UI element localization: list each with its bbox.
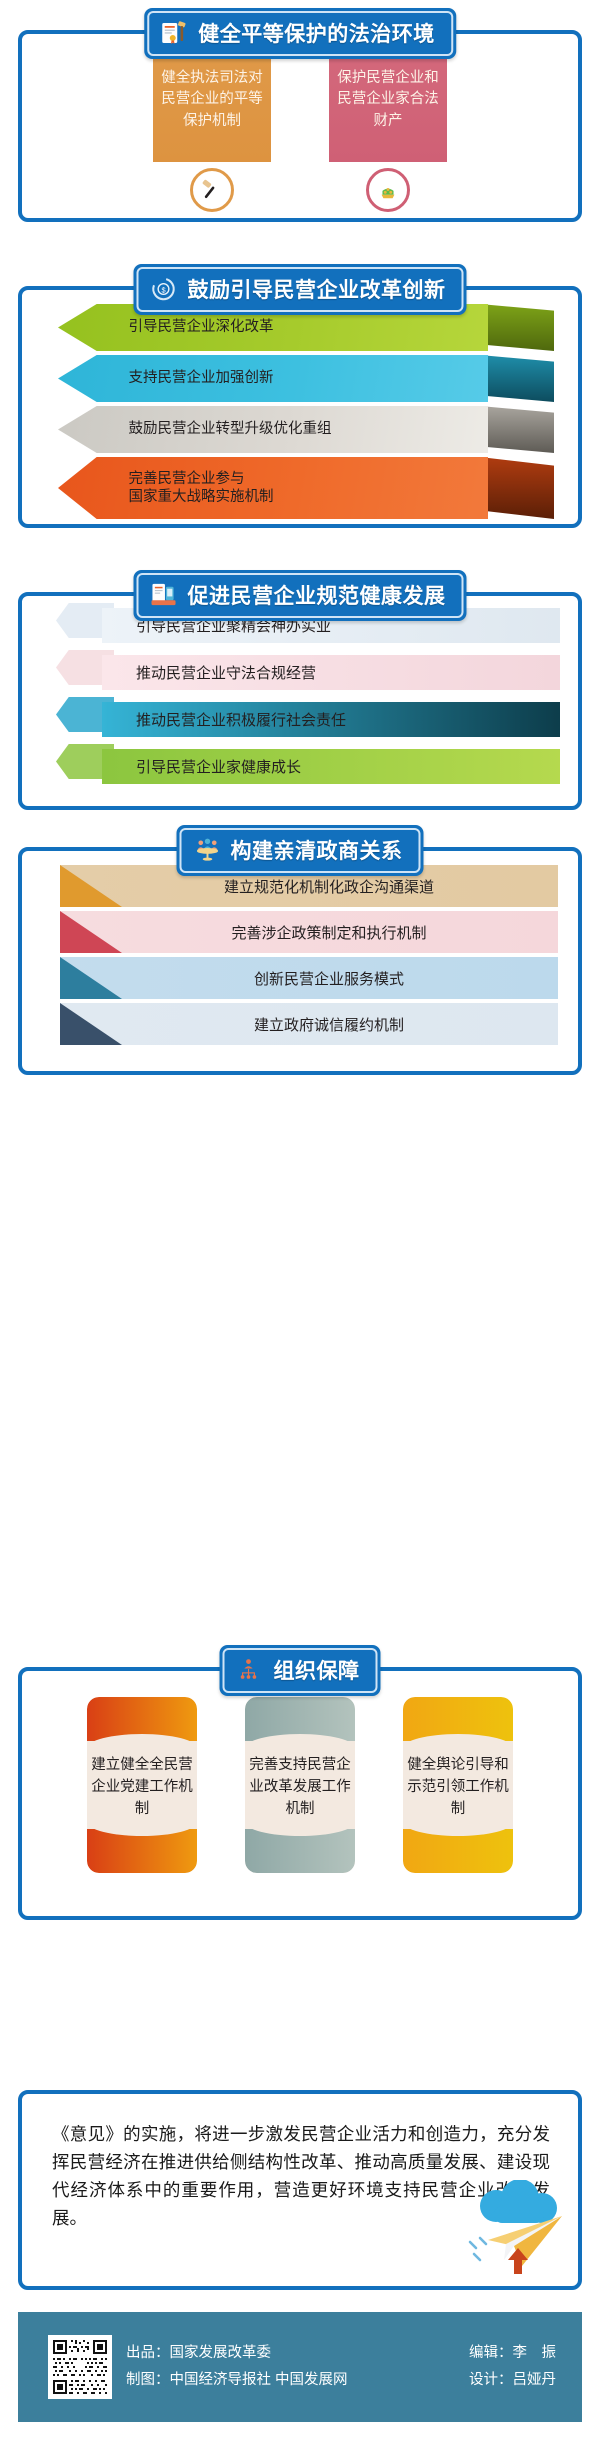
section-gov-business-relations: 构建亲清政商关系 建立规范化机制化政企沟通渠道 完善涉企政策制定和执行机制 创新… xyxy=(18,825,582,1075)
section-title: 组织保障 xyxy=(274,1655,360,1685)
banner-label: 推动民营企业守法合规经营 xyxy=(102,655,560,690)
cylinder-card[interactable]: 健全舆论引导和示范引领工作机制 xyxy=(403,1697,513,1873)
legal-card-2[interactable]: 保护民营企业和民营企业家合法财产 xyxy=(329,38,447,212)
banner-list: 引导民营企业聚精会神办实业 推动民营企业守法合规经营 推动民营企业积极履行社会责… xyxy=(56,608,560,796)
ribbon-item[interactable]: 建立政府诚信履约机制 xyxy=(60,1003,558,1045)
section-title: 鼓励引导民营企业改革创新 xyxy=(188,274,446,304)
section-header[interactable]: 构建亲清政商关系 xyxy=(177,825,424,876)
ribbon-item[interactable]: 完善涉企政策制定和执行机制 xyxy=(60,911,558,953)
cylinder-foot xyxy=(87,1829,197,1873)
banner-label: 引导民营企业家健康成长 xyxy=(102,749,560,784)
ribbon-label: 完善涉企政策制定和执行机制 xyxy=(191,922,426,943)
qr-code[interactable] xyxy=(48,2335,112,2399)
section-title: 健全平等保护的法治环境 xyxy=(198,18,435,48)
people-table-icon xyxy=(194,837,222,863)
clipboard-phone-icon xyxy=(151,582,179,608)
section-organizational-guarantee: 组织保障 建立健全全民营企业党建工作机制 完善支持民营企业改革发展工作机制 健全… xyxy=(18,1645,582,1920)
ribbon-label: 创新民营企业服务模式 xyxy=(214,968,404,989)
cylinder-foot xyxy=(403,1829,513,1873)
section-header[interactable]: 促进民营企业规范健康发展 xyxy=(134,570,467,621)
cylinder-label: 完善支持民营企业改革发展工作机制 xyxy=(245,1741,355,1835)
charted-by: 制图：中国经济导报社 中国发展网 xyxy=(126,2367,469,2394)
legal-card-1[interactable]: 健全执法司法对民营企业的平等保护机制 xyxy=(153,38,271,212)
chevron-label-line2: 国家重大战略实施机制 xyxy=(129,488,274,506)
ribbon-tail xyxy=(60,957,122,999)
section-header[interactable]: 健全平等保护的法治环境 xyxy=(144,8,456,59)
cylinder-cap xyxy=(87,1697,197,1741)
chevron-list: 引导民营企业深化改革 支持民营企业加强创新 鼓励民营企业转型升级优化重组 完善民… xyxy=(58,304,562,523)
cylinder-cap xyxy=(245,1697,355,1741)
chevron-item[interactable]: 完善民营企业参与 国家重大战略实施机制 xyxy=(58,457,562,519)
produced-by: 出品：国家发展改革委 xyxy=(126,2340,469,2367)
chevron-side xyxy=(480,355,554,402)
svg-text:$: $ xyxy=(161,285,165,294)
ribbon-tail xyxy=(60,865,122,907)
section-reform-innovation: $ 鼓励引导民营企业改革创新 引导民营企业深化改革 支持民营企业加强创新 鼓励民… xyxy=(18,264,582,528)
chevron-label-multiline: 完善民营企业参与 国家重大战略实施机制 xyxy=(58,457,488,519)
cylinder-list: 建立健全全民营企业党建工作机制 完善支持民营企业改革发展工作机制 健全舆论引导和… xyxy=(18,1697,582,1873)
banner-item[interactable]: 推动民营企业积极履行社会责任 xyxy=(56,702,560,737)
section-legal-environment: 健全平等保护的法治环境 健全执法司法对民营企业的平等保护机制 保护民营企业和民营… xyxy=(18,8,582,222)
banner-label: 推动民营企业积极履行社会责任 xyxy=(102,702,560,737)
cylinder-card[interactable]: 完善支持民营企业改革发展工作机制 xyxy=(245,1697,355,1873)
recycle-coin-icon: $ xyxy=(151,276,179,302)
section-header[interactable]: 组织保障 xyxy=(220,1645,381,1696)
ribbon-tail xyxy=(60,911,122,953)
org-chart-icon xyxy=(237,1657,265,1683)
editor: 编辑：李 振 xyxy=(469,2340,556,2367)
chevron-label: 支持民营企业加强创新 xyxy=(58,355,488,402)
section-title: 促进民营企业规范健康发展 xyxy=(188,580,446,610)
legal-cards-row: 健全执法司法对民营企业的平等保护机制 保护民营企业和民营企业家合法财产 xyxy=(18,38,582,212)
banner-item[interactable]: 推动民营企业守法合规经营 xyxy=(56,655,560,690)
section-title: 构建亲清政商关系 xyxy=(231,835,403,865)
ribbon-label: 建立政府诚信履约机制 xyxy=(214,1014,404,1035)
section-healthy-development: 促进民营企业规范健康发展 引导民营企业聚精会神办实业 推动民营企业守法合规经营 … xyxy=(18,570,582,810)
chevron-label: 鼓励民营企业转型升级优化重组 xyxy=(58,406,488,453)
chevron-side xyxy=(480,457,554,519)
banner-item[interactable]: 引导民营企业家健康成长 xyxy=(56,749,560,784)
chevron-side xyxy=(480,406,554,453)
cylinder-label: 建立健全全民营企业党建工作机制 xyxy=(87,1741,197,1835)
footer-bar: 出品：国家发展改革委 编辑：李 振 制图：中国经济导报社 中国发展网 设计：吕娅… xyxy=(18,2312,582,2422)
cylinder-card[interactable]: 建立健全全民营企业党建工作机制 xyxy=(87,1697,197,1873)
ribbon-tail xyxy=(60,1003,122,1045)
ribbon-list: 建立规范化机制化政企沟通渠道 完善涉企政策制定和执行机制 创新民营企业服务模式 … xyxy=(60,865,558,1049)
cylinder-foot xyxy=(245,1829,355,1873)
treasure-money-icon xyxy=(366,168,410,212)
chevron-item[interactable]: 支持民营企业加强创新 xyxy=(58,355,562,402)
cylinder-cap xyxy=(403,1697,513,1741)
ribbon-item[interactable]: 创新民营企业服务模式 xyxy=(60,957,558,999)
chevron-label-line1: 完善民营企业参与 xyxy=(129,470,274,488)
cloud-paper-plane-icon xyxy=(444,2180,564,2276)
cylinder-label: 健全舆论引导和示范引领工作机制 xyxy=(403,1741,513,1835)
document-gavel-icon xyxy=(161,20,189,46)
chevron-item[interactable]: 鼓励民营企业转型升级优化重组 xyxy=(58,406,562,453)
chevron-side xyxy=(480,304,554,351)
designer: 设计：吕娅丹 xyxy=(469,2367,556,2394)
gavel-icon xyxy=(190,168,234,212)
footer-credits: 出品：国家发展改革委 编辑：李 振 制图：中国经济导报社 中国发展网 设计：吕娅… xyxy=(126,2340,556,2394)
section-header[interactable]: $ 鼓励引导民营企业改革创新 xyxy=(134,264,467,315)
conclusion-box: 《意见》的实施，将进一步激发民营企业活力和创造力，充分发挥民营经济在推进供给侧结… xyxy=(18,2090,582,2290)
ribbon-label: 建立规范化机制化政企沟通渠道 xyxy=(184,876,434,897)
